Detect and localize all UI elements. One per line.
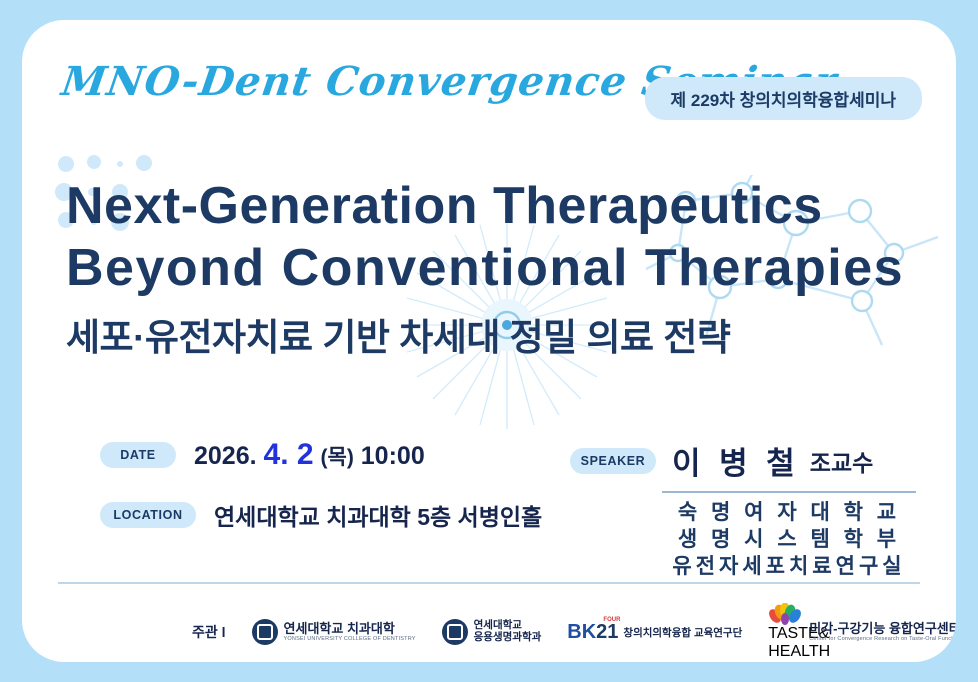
footer-divider [58, 582, 920, 584]
location-row: LOCATION 연세대학교 치과대학 5층 서병인홀 [100, 498, 570, 532]
title-block: Next-Generation Therapeutics Beyond Conv… [66, 175, 926, 361]
speaker-details: SPEAKER 이 병 철 조교수 숙 명 여 자 대 학 교 생 명 시 스 … [570, 438, 950, 580]
speaker-rank: 조교수 [810, 444, 873, 478]
affiliation-line-2: 생 명 시 스 템 학 부 [662, 526, 916, 553]
logo-taste-health-ko: 미각-구강기능 융합연구센터 [809, 622, 956, 637]
korean-subtitle: 세포·유전자치료 기반 차세대 정밀 의료 전략 [66, 307, 926, 361]
date-value: 2026. 4. 2 (목) 10:00 [194, 438, 425, 472]
seminar-poster: MNO-Dent Convergence Seminar 제 229차 창의치의… [0, 0, 978, 682]
host-label: 주관 l [192, 622, 226, 642]
taste-health-mark-icon: TASTE& HEALTH [768, 603, 802, 661]
date-row: DATE 2026. 4. 2 (목) 10:00 [100, 438, 570, 472]
bk21-label: 창의치의학융합 교육연구단 [623, 625, 742, 640]
logo-taste-health-text: 미각-구강기능 융합연구센터 Center for Convergence Re… [809, 622, 956, 643]
date-time: 10:00 [361, 442, 425, 470]
logo-yonsei-als-text: 연세대학교 응용생명과학과 [474, 620, 542, 644]
speaker-label-pill: SPEAKER [570, 448, 656, 474]
logo-yonsei-dentistry-en: YONSEI UNIVERSITY COLLEGE OF DENTISTRY [284, 636, 416, 642]
speaker-name: 이 병 철 [672, 438, 800, 483]
speaker-row: SPEAKER 이 병 철 조교수 [570, 438, 950, 483]
title-line-1: Next-Generation Therapeutics [66, 175, 926, 237]
yonsei-emblem-icon [252, 619, 278, 645]
logo-yonsei-dentistry-text: 연세대학교 치과대학 YONSEI UNIVERSITY COLLEGE OF … [284, 622, 416, 643]
affiliation-line-1: 숙 명 여 자 대 학 교 [662, 499, 916, 526]
footer-organizers: 주관 l 연세대학교 치과대학 YONSEI UNIVERSITY COLLEG… [58, 608, 920, 656]
bk21-four-text: FOUR [603, 617, 620, 623]
logo-bk21: BK21FOUR 창의치의학융합 교육연구단 [567, 621, 742, 644]
logo-yonsei-als-line2: 응용생명과학과 [474, 632, 542, 644]
affiliation-line-3: 유전자세포치료연구실 [662, 553, 916, 580]
date-weekday: (목) [321, 446, 354, 469]
speaker-affiliation: 숙 명 여 자 대 학 교 생 명 시 스 템 학 부 유전자세포치료연구실 [662, 499, 916, 580]
location-value: 연세대학교 치과대학 5층 서병인홀 [214, 498, 542, 532]
title-line-2: Beyond Conventional Therapies [66, 237, 926, 299]
logo-taste-health-en: Center for Convergence Research on Taste… [809, 636, 956, 642]
yonsei-emblem-icon-2 [442, 619, 468, 645]
taste-cap-line2: HEALTH [768, 643, 802, 661]
date-accent: 4. 2 [264, 438, 314, 471]
poster-card: MNO-Dent Convergence Seminar 제 229차 창의치의… [22, 20, 956, 662]
logo-yonsei-dentistry-ko: 연세대학교 치과대학 [284, 622, 416, 637]
date-label-pill: DATE [100, 442, 176, 468]
taste-petals-icon [768, 603, 802, 625]
logo-yonsei-applied-life-science: 연세대학교 응용생명과학과 [442, 619, 542, 645]
location-label-pill: LOCATION [100, 502, 196, 528]
bk21-bk-text: BK [567, 621, 596, 643]
taste-cap-line1: TASTE& [768, 625, 802, 643]
speaker-divider [662, 491, 916, 493]
bk21-mark-icon: BK21FOUR [567, 621, 618, 644]
date-year: 2026. [194, 442, 257, 470]
edition-badge: 제 229차 창의치의학융합세미나 [645, 77, 923, 120]
logo-yonsei-dentistry: 연세대학교 치과대학 YONSEI UNIVERSITY COLLEGE OF … [252, 619, 416, 645]
bk21-21-text: 21 [596, 621, 618, 643]
event-details-left: DATE 2026. 4. 2 (목) 10:00 LOCATION 연세대학교… [100, 438, 570, 532]
logo-taste-health-center: TASTE& HEALTH 미각-구강기능 융합연구센터 Center for … [768, 603, 956, 661]
